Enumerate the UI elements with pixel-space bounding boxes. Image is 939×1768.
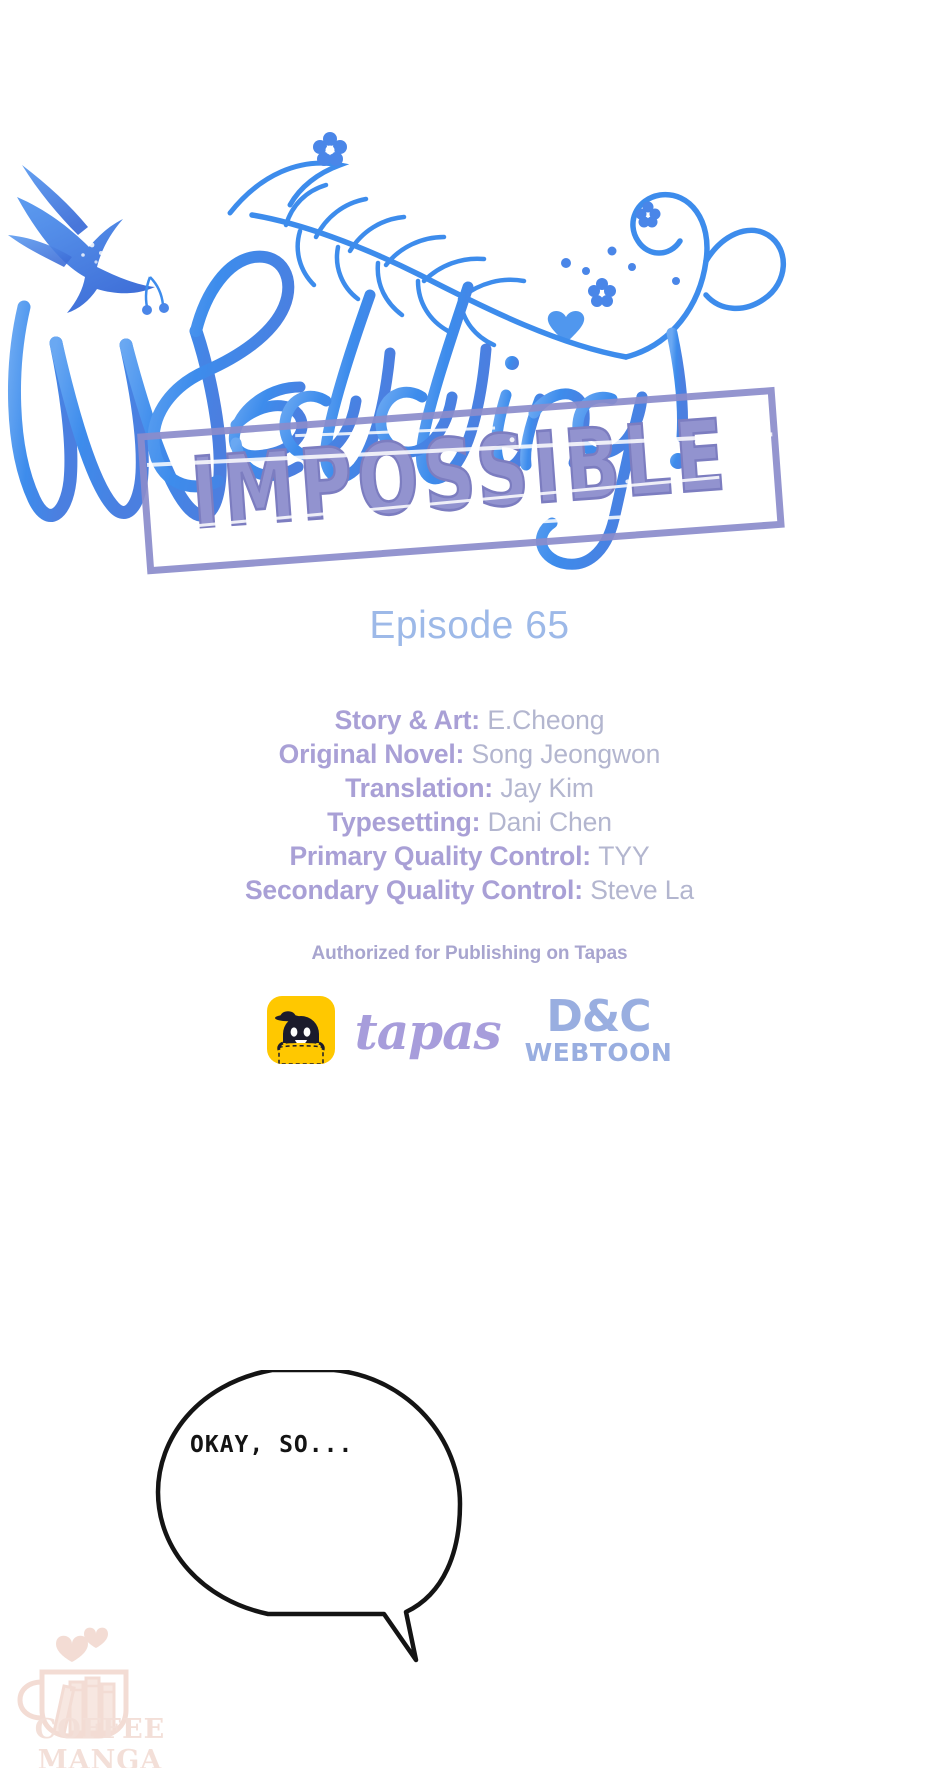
swallow-bird-icon <box>8 165 169 315</box>
tapas-mascot-icon <box>267 996 335 1064</box>
episode-number: Episode 65 <box>0 604 939 648</box>
credit-value: TYY <box>598 841 649 871</box>
speech-bubble <box>148 1370 468 1768</box>
publishing-authorization-text: Authorized for Publishing on Tapas <box>0 943 939 965</box>
credit-row-original-novel: Original Novel: Song Jeongwon <box>0 737 939 771</box>
dc-webtoon-sub-text: WEBTOON <box>525 1040 673 1065</box>
webtoon-title-page: IMPOSSIBLE Episode 65 Story & Art: E.Che… <box>0 0 939 1768</box>
credit-value: Dani Chen <box>488 807 612 837</box>
dc-webtoon-main-text: D&C <box>546 995 650 1039</box>
credits-block: Story & Art: E.Cheong Original Novel: So… <box>0 703 939 907</box>
svg-text:IMPOSSIBLE: IMPOSSIBLE <box>188 399 734 552</box>
speech-bubble-text: OKAY, SO... <box>190 1432 410 1458</box>
credit-value: E.Cheong <box>487 705 604 735</box>
tapas-wordmark: tapas <box>355 1007 501 1057</box>
credit-row-story-art: Story & Art: E.Cheong <box>0 703 939 737</box>
credit-row-translation: Translation: Jay Kim <box>0 771 939 805</box>
credit-label: Original Novel: <box>279 739 464 769</box>
publisher-logo-row: tapas D&C WEBTOON <box>0 975 939 1085</box>
credit-row-secondary-qc: Secondary Quality Control: Steve La <box>0 873 939 907</box>
credit-row-typesetting: Typesetting: Dani Chen <box>0 805 939 839</box>
credit-label: Primary Quality Control: <box>289 841 590 871</box>
credit-label: Translation: <box>345 773 493 803</box>
credit-label: Typesetting: <box>327 807 480 837</box>
series-title-artwork: IMPOSSIBLE <box>0 95 939 625</box>
credit-label: Story & Art: <box>335 705 480 735</box>
credit-row-primary-qc: Primary Quality Control: TYY <box>0 839 939 873</box>
dc-webtoon-logo: D&C WEBTOON <box>525 995 673 1065</box>
speech-bubble-shape <box>158 1370 460 1660</box>
floral-branch-icon <box>230 163 783 357</box>
credit-value: Steve La <box>590 875 694 905</box>
credit-label: Secondary Quality Control: <box>245 875 583 905</box>
credit-value: Jay Kim <box>500 773 594 803</box>
credit-value: Song Jeongwon <box>472 739 661 769</box>
